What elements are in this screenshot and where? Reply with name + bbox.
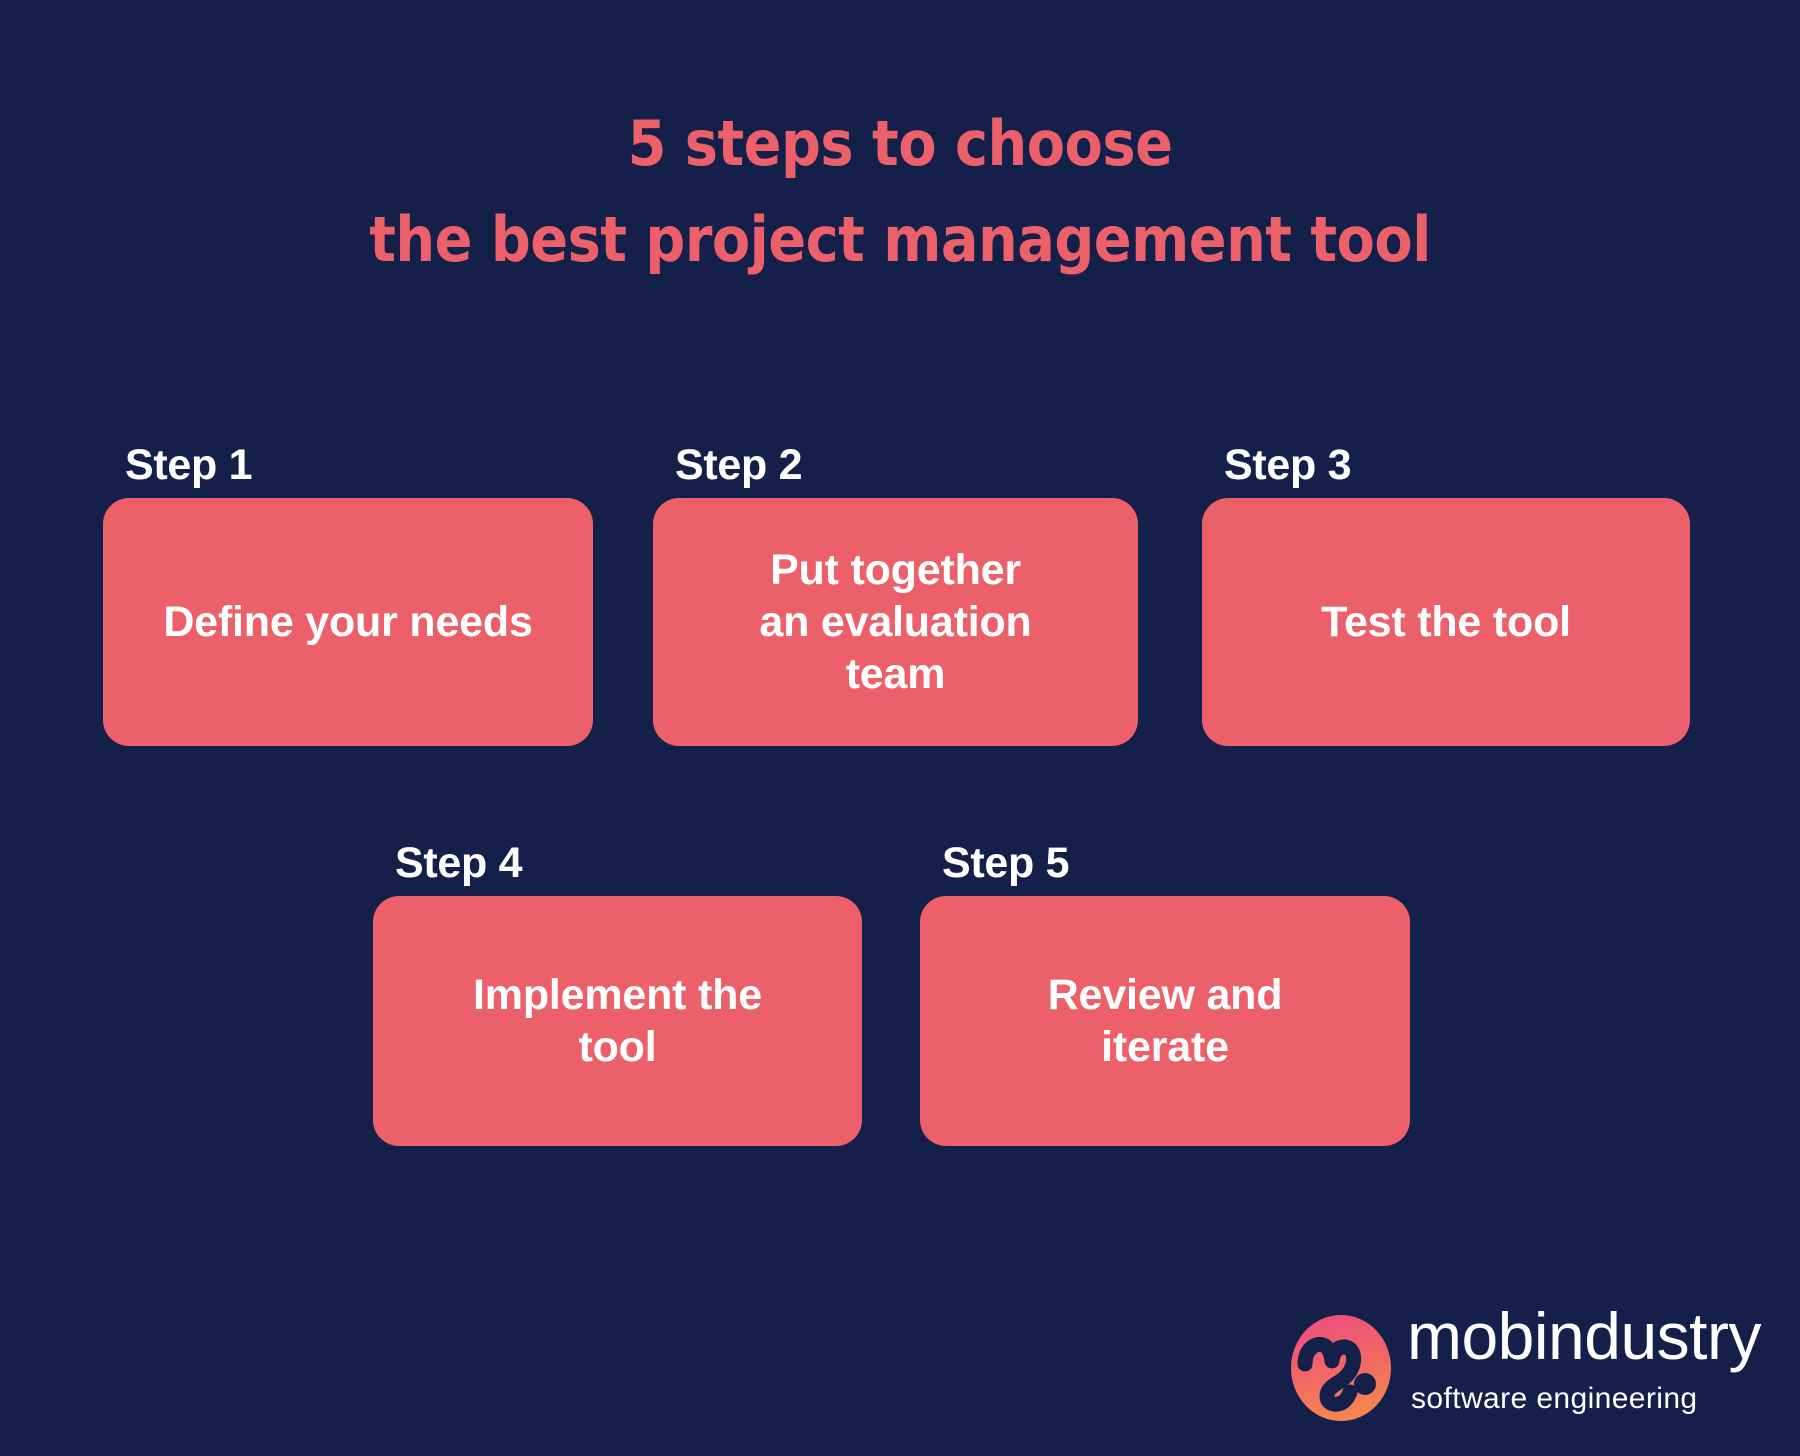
step-item-3: Step 3 Test the tool bbox=[1202, 440, 1690, 746]
step-card-text-5: Review and iterate bbox=[1048, 969, 1283, 1073]
infographic-canvas: 5 steps to choose the best project manag… bbox=[0, 0, 1800, 1456]
step-item-5: Step 5 Review and iterate bbox=[920, 838, 1410, 1146]
step-card-text-1: Define your needs bbox=[163, 596, 532, 648]
page-title: 5 steps to choose the best project manag… bbox=[0, 96, 1800, 288]
step-label-1: Step 1 bbox=[103, 440, 593, 490]
brand-tagline: software engineering bbox=[1411, 1380, 1761, 1418]
brand-wordmark: mobindustry bbox=[1407, 1300, 1761, 1372]
step-label-5: Step 5 bbox=[920, 838, 1410, 888]
step-item-2: Step 2 Put together an evaluation team bbox=[653, 440, 1138, 746]
step-card-text-4: Implement the tool bbox=[473, 969, 762, 1073]
step-item-1: Step 1 Define your needs bbox=[103, 440, 593, 746]
mobindustry-m-logo-icon bbox=[1289, 1314, 1393, 1422]
step-item-4: Step 4 Implement the tool bbox=[373, 838, 862, 1146]
brand-logo-text: mobindustry software engineering bbox=[1407, 1300, 1761, 1418]
brand-logo: mobindustry software engineering bbox=[1289, 1300, 1761, 1422]
step-card-3[interactable]: Test the tool bbox=[1202, 498, 1690, 746]
step-card-1[interactable]: Define your needs bbox=[103, 498, 593, 746]
step-card-4[interactable]: Implement the tool bbox=[373, 896, 862, 1146]
step-card-text-3: Test the tool bbox=[1321, 596, 1571, 648]
step-card-2[interactable]: Put together an evaluation team bbox=[653, 498, 1138, 746]
step-label-3: Step 3 bbox=[1202, 440, 1690, 490]
step-card-5[interactable]: Review and iterate bbox=[920, 896, 1410, 1146]
step-label-4: Step 4 bbox=[373, 838, 862, 888]
page-title-line-1: 5 steps to choose bbox=[0, 96, 1800, 192]
step-card-text-2: Put together an evaluation team bbox=[759, 544, 1031, 700]
page-title-line-2: the best project management tool bbox=[0, 192, 1800, 288]
step-label-2: Step 2 bbox=[653, 440, 1138, 490]
